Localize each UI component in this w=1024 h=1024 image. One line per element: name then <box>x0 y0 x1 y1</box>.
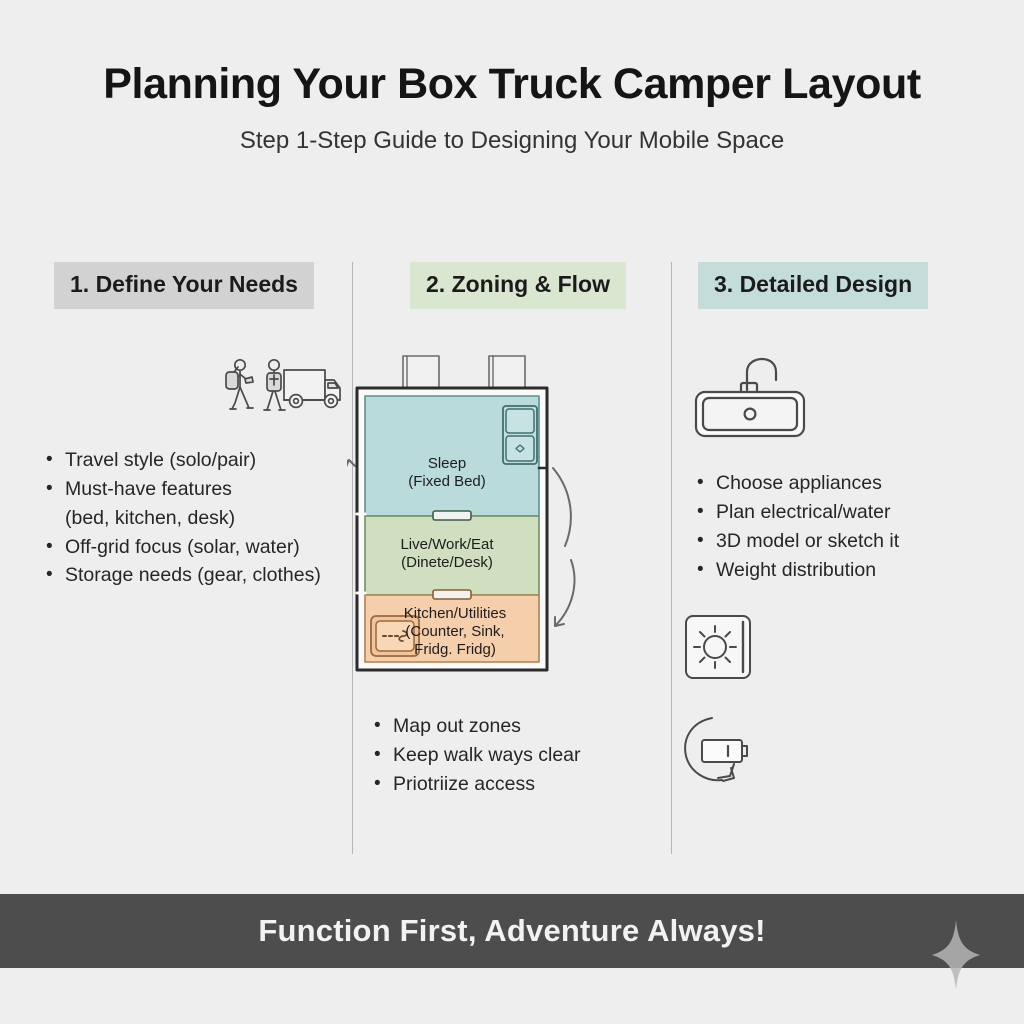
zone-label-live-line1: Live/Work/Eat <box>400 536 494 553</box>
column-define-your-needs: 1. Define Your Needs <box>0 262 352 862</box>
column-header-define-your-needs: 1. Define Your Needs <box>54 262 314 309</box>
zone-label-sleep-line1: Sleep <box>428 455 466 472</box>
list-item: 3D model or sketch it <box>697 527 1007 556</box>
column-zoning-and-flow: 2. Zoning & Flow <box>352 262 672 862</box>
battery-recharge-icon <box>678 710 762 795</box>
bullet-list-define-your-needs: Travel style (solo/pair) Must-have featu… <box>46 446 346 590</box>
solar-panel-icon <box>682 612 756 687</box>
zone-label-live-line2: (Dinete/Desk) <box>401 554 493 571</box>
column-header-zoning-and-flow: 2. Zoning & Flow <box>410 262 626 309</box>
zone-label-kitchen-line2: (Counter, Sink, <box>405 623 504 640</box>
sink-with-faucet-icon <box>690 354 810 445</box>
list-item: Storage needs (gear, clothes) <box>46 561 346 590</box>
list-item: Must-have features (bed, kitchen, desk) <box>46 475 346 533</box>
sparkle-watermark <box>930 916 982 994</box>
zone-label-sleep-line2: (Fixed Bed) <box>408 473 486 490</box>
hikers-and-box-truck-icon <box>212 354 342 421</box>
column-header-detailed-design: 3. Detailed Design <box>698 262 928 309</box>
list-item: Priotriize access <box>374 770 664 799</box>
box-truck-floor-plan: Sleep (Fixed Bed) Live/Work/Eat (Dinete/… <box>347 350 637 685</box>
list-item: Plan electrical/water <box>697 498 1007 527</box>
header-block: Planning Your Box Truck Camper Layout St… <box>0 0 1024 155</box>
arrow-left-upper <box>347 460 349 546</box>
bullet-list-detailed-design: Choose appliances Plan electrical/water … <box>697 469 1007 584</box>
page-title: Planning Your Box Truck Camper Layout <box>0 62 1024 107</box>
list-item: Keep walk ways clear <box>374 741 664 770</box>
page-subtitle: Step 1-Step Guide to Designing Your Mobi… <box>0 127 1024 155</box>
columns-container: 1. Define Your Needs <box>0 262 1024 862</box>
zone-label-kitchen-line3: Fridg. Fridg) <box>414 641 496 658</box>
column-detailed-design: 3. Detailed Design <box>672 262 1024 862</box>
list-item: Map out zones <box>374 712 664 741</box>
list-item: Travel style (solo/pair) <box>46 446 346 475</box>
arrow-right-upper <box>553 468 571 546</box>
list-item: Weight distribution <box>697 556 1007 585</box>
list-item: Off-grid focus (solar, water) <box>46 533 346 562</box>
arrow-right-lower <box>555 560 574 626</box>
footer-tagline: Function First, Adventure Always! <box>258 913 765 949</box>
list-item: Choose appliances <box>697 469 1007 498</box>
footer-banner: Function First, Adventure Always! <box>0 894 1024 968</box>
bullet-list-zoning-and-flow: Map out zones Keep walk ways clear Priot… <box>374 712 664 799</box>
zone-label-kitchen-line1: Kitchen/Utilities <box>404 605 507 622</box>
